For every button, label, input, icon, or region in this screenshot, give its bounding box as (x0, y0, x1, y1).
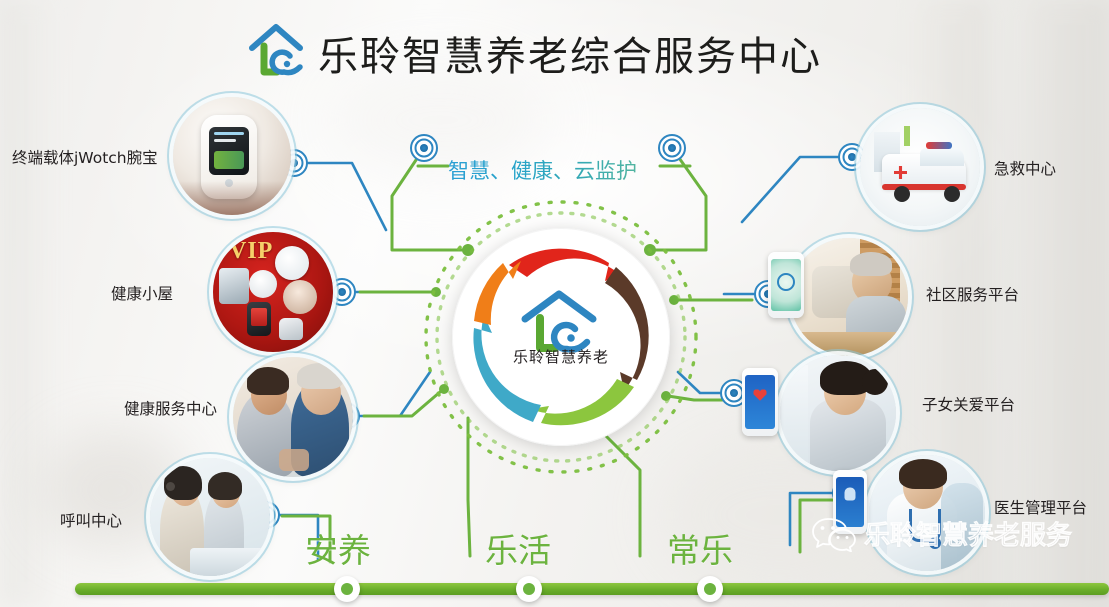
vip-health-devices-photo: VIP (213, 232, 333, 352)
green-arrow-segment (530, 379, 634, 425)
label-children-care: 子女关爱平台 (922, 393, 1015, 415)
hub-label: 乐聆智慧养老 (513, 346, 609, 367)
bottom-green-bar (75, 583, 1109, 595)
label-health-service: 健康服务中心 (124, 397, 217, 419)
elderly-man-phone-photo (790, 238, 908, 356)
pillar-lehuo: 乐活 (485, 524, 551, 572)
pillar-changle: 常乐 (667, 524, 733, 572)
pillar-anyang: 安养 (305, 524, 371, 572)
wechat-label: 乐聆智慧养老服务 (864, 515, 1072, 552)
bar-node-anyang[interactable] (334, 576, 360, 602)
tagline: 智慧、健康、云监护 (448, 155, 637, 185)
bar-node-changle[interactable] (697, 576, 723, 602)
bar-node-lehuo[interactable] (516, 576, 542, 602)
label-health-hut: 健康小屋 (111, 282, 173, 304)
smartwatch-photo (173, 97, 291, 215)
line-terminal (300, 163, 386, 230)
label-call-center: 呼叫中心 (60, 509, 122, 531)
photo-circle-health-hut[interactable]: VIP (213, 232, 333, 352)
brown-arrow-segment (605, 267, 649, 391)
house-swirl-logo-icon (246, 22, 308, 84)
phone-mockup-community (768, 252, 804, 318)
woman-smartphone-photo (780, 355, 896, 471)
brand-header: 乐聆智慧养老综合服务中心 (246, 22, 822, 84)
line-emergency (742, 157, 846, 222)
photo-circle-children-care[interactable] (780, 355, 896, 471)
wechat-icon (812, 516, 856, 552)
photo-circle-doctor-admin[interactable] (869, 455, 985, 571)
infographic-canvas: 乐聆智慧养老综合服务中心 智慧、健康、云监护 终端载体jWotch腕宝 VIP … (0, 0, 1109, 607)
wechat-badge[interactable]: 乐聆智慧养老服务 (812, 515, 1072, 552)
photo-circle-call-center[interactable] (150, 458, 270, 576)
photo-circle-community[interactable] (790, 238, 908, 356)
call-center-agents-photo (150, 458, 270, 576)
page-title: 乐聆智慧养老综合服务中心 (318, 24, 822, 82)
ambulance-photo (860, 108, 980, 226)
photo-circle-emergency[interactable] (860, 108, 980, 226)
red-arrow-segment (509, 249, 621, 281)
label-community: 社区服务平台 (926, 283, 1019, 305)
photo-circle-terminal[interactable] (173, 97, 291, 215)
label-emergency: 急救中心 (994, 157, 1056, 179)
line-green-hub-down-right (600, 430, 640, 556)
label-terminal: 终端载体jWotch腕宝 (12, 146, 158, 168)
phone-mockup-children-care (742, 368, 778, 436)
doctor-stethoscope-photo (869, 455, 985, 571)
central-hub[interactable]: 乐聆智慧养老 (452, 228, 670, 446)
